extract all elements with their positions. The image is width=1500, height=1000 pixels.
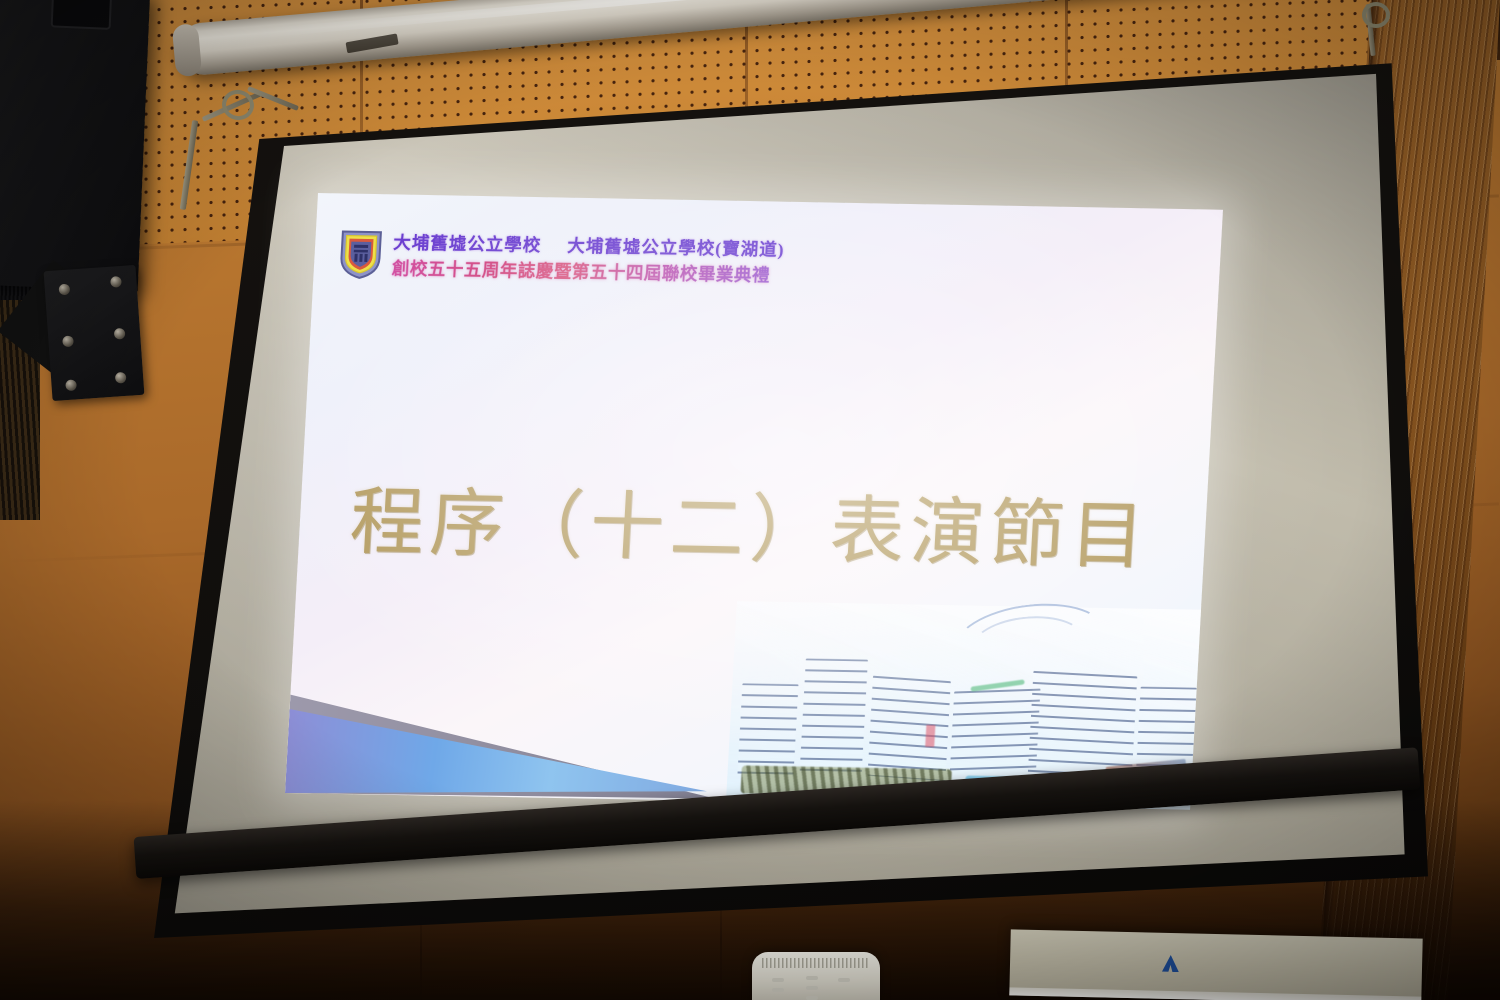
slide-header-text: 大埔舊墟公立學校大埔舊墟公立學校(寶湖道) 創校五十五周年誌慶暨第五十四屆聯校畢… [391,229,785,287]
wedge-blue-shape [285,673,722,801]
triangle-a-logo-icon [1162,955,1179,972]
device-vents [762,958,870,968]
blue-wedge-graphic [285,673,722,801]
roller-brand-mark [346,33,399,53]
slide-title: 程序（十二）表演節目 [347,462,1173,584]
projection-screen: 大埔舊墟公立學校大埔舊墟公立學校(寶湖道) 創校五十五周年誌慶暨第五十四屆聯校畢… [128,58,1428,938]
speaker-handle [51,0,113,30]
slide-header: 大埔舊墟公立學校大埔舊墟公立學校(寶湖道) 創校五十五周年誌慶暨第五十四屆聯校畢… [337,227,785,287]
projected-slide: 大埔舊墟公立學校大埔舊墟公立學校(寶湖道) 創校五十五周年誌慶暨第五十四屆聯校畢… [285,193,1223,810]
school-crest-icon [337,227,384,280]
screenshot-scene: 大埔舊墟公立學校大埔舊墟公立學校(寶湖道) 創校五十五周年誌慶暨第五十四屆聯校畢… [0,0,1500,1000]
banner-logo [1162,955,1183,972]
wall-banner-panel [1009,929,1422,1000]
hanger-hook [1362,2,1390,28]
ceiling-access-point [752,952,880,1000]
